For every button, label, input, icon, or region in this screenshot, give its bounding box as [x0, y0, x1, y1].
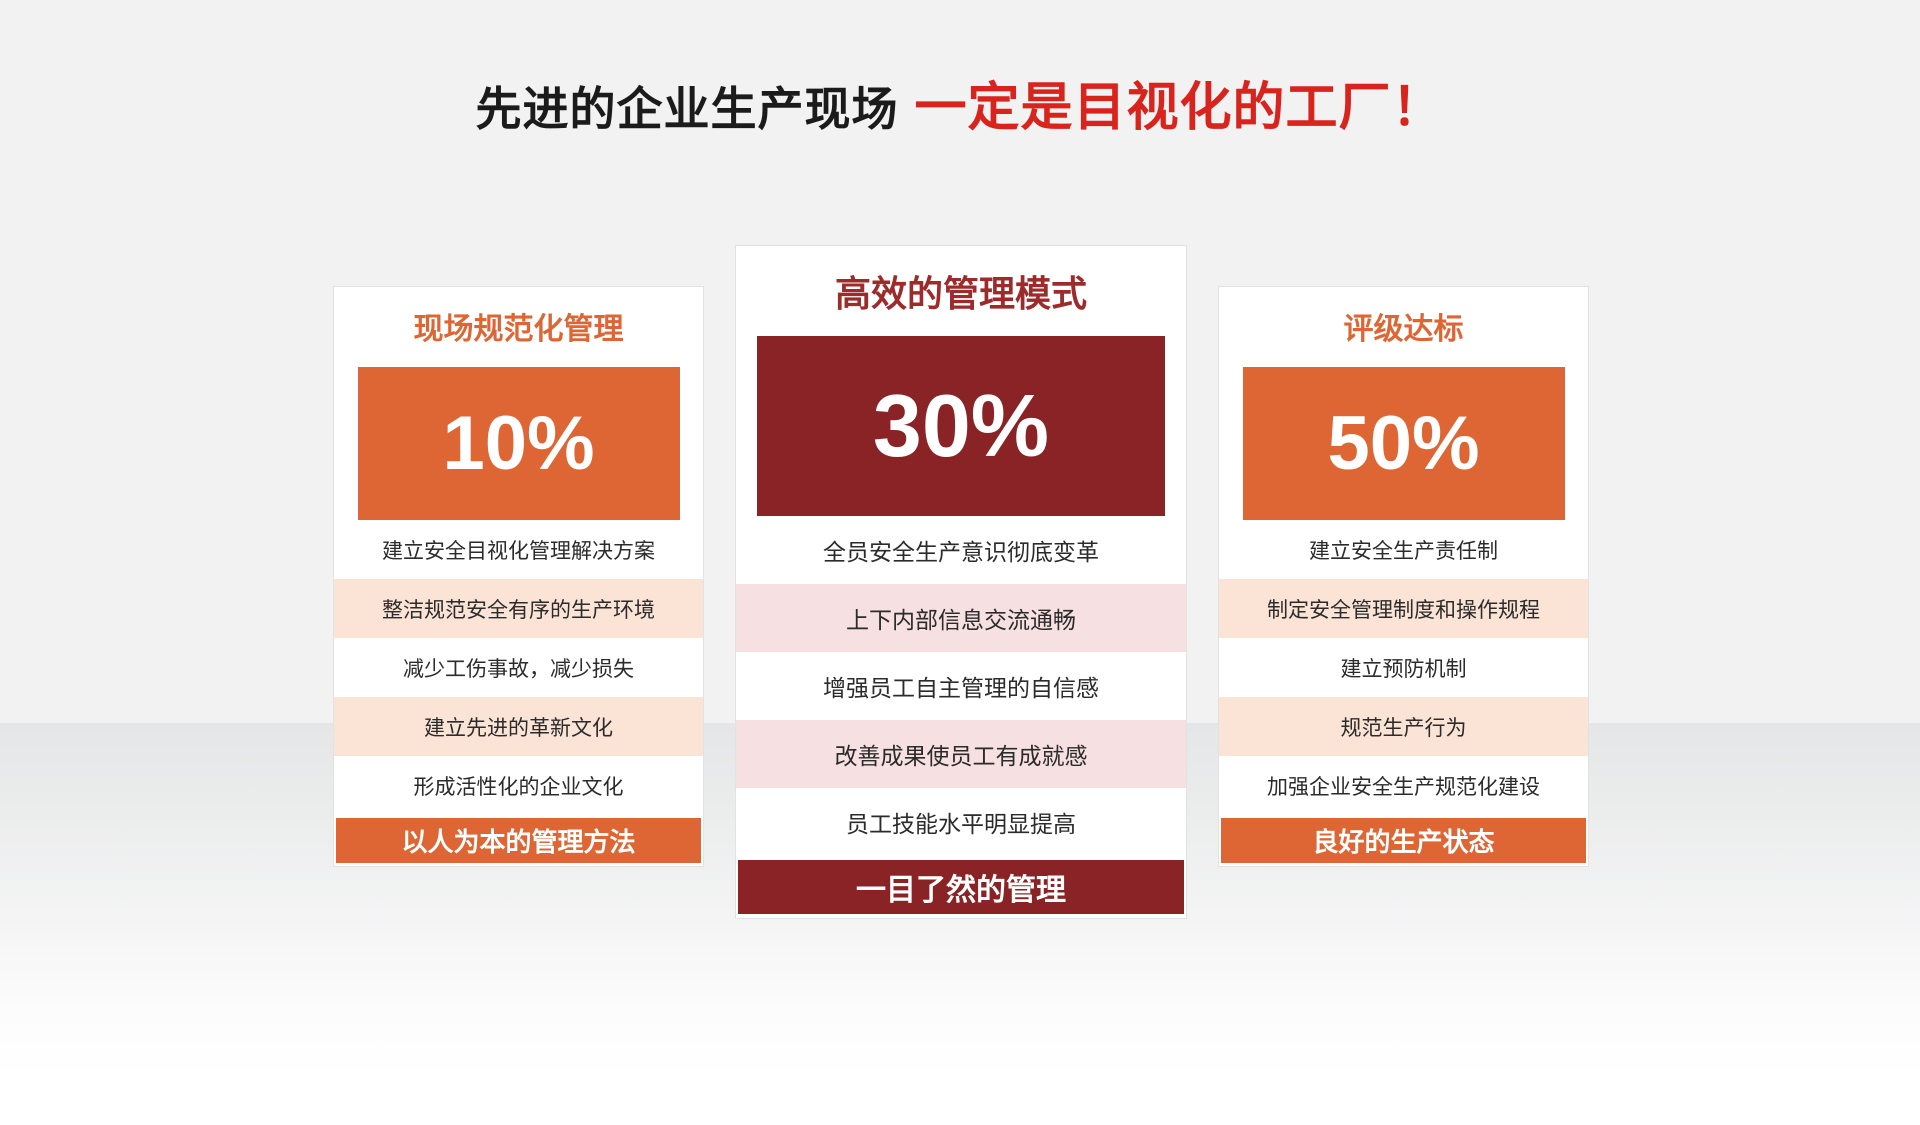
list-item[interactable]: 员工技能水平明显提高 — [736, 788, 1186, 856]
card-rating-compliance[interactable]: 评级达标 50% 建立安全生产责任制 制定安全管理制度和操作规程 建立预防机制 … — [1218, 286, 1589, 867]
card-row-list: 建立安全生产责任制 制定安全管理制度和操作规程 建立预防机制 规范生产行为 加强… — [1219, 520, 1588, 815]
card-footer-banner[interactable]: 一目了然的管理 — [738, 860, 1184, 914]
list-item[interactable]: 整洁规范安全有序的生产环境 — [334, 579, 703, 638]
list-item[interactable]: 改善成果使员工有成就感 — [736, 720, 1186, 788]
stat-percentage-block: 30% — [757, 336, 1165, 516]
stat-value: 50% — [1327, 406, 1479, 482]
list-item[interactable]: 增强员工自主管理的自信感 — [736, 652, 1186, 720]
list-item[interactable]: 上下内部信息交流通畅 — [736, 584, 1186, 652]
card-title: 现场规范化管理 — [334, 287, 703, 367]
stat-percentage-block: 50% — [1243, 367, 1565, 520]
list-item[interactable]: 规范生产行为 — [1219, 697, 1588, 756]
list-item[interactable]: 制定安全管理制度和操作规程 — [1219, 579, 1588, 638]
card-efficient-management-mode[interactable]: 高效的管理模式 30% 全员安全生产意识彻底变革 上下内部信息交流通畅 增强员工… — [735, 245, 1187, 919]
stat-value: 10% — [442, 406, 594, 482]
stat-percentage-block: 10% — [358, 367, 680, 520]
list-item[interactable]: 减少工伤事故，减少损失 — [334, 638, 703, 697]
list-item[interactable]: 建立预防机制 — [1219, 638, 1588, 697]
card-title: 高效的管理模式 — [736, 246, 1186, 336]
card-row-list: 全员安全生产意识彻底变革 上下内部信息交流通畅 增强员工自主管理的自信感 改善成… — [736, 516, 1186, 856]
card-footer-banner[interactable]: 以人为本的管理方法 — [336, 818, 701, 863]
list-item[interactable]: 加强企业安全生产规范化建设 — [1219, 756, 1588, 815]
page-title: 先进的企业生产现场一定是目视化的工厂！ — [0, 82, 1920, 134]
card-footer-banner[interactable]: 良好的生产状态 — [1221, 818, 1586, 863]
page-title-black-part: 先进的企业生产现场 — [475, 83, 898, 135]
page-title-red-part: 一定是目视化的工厂！ — [914, 79, 1444, 137]
stat-value: 30% — [873, 382, 1049, 470]
list-item[interactable]: 建立安全目视化管理解决方案 — [334, 520, 703, 579]
card-title: 评级达标 — [1219, 287, 1588, 367]
list-item[interactable]: 形成活性化的企业文化 — [334, 756, 703, 815]
list-item[interactable]: 建立先进的革新文化 — [334, 697, 703, 756]
card-row-list: 建立安全目视化管理解决方案 整洁规范安全有序的生产环境 减少工伤事故，减少损失 … — [334, 520, 703, 815]
card-site-standardized-management[interactable]: 现场规范化管理 10% 建立安全目视化管理解决方案 整洁规范安全有序的生产环境 … — [333, 286, 704, 867]
list-item[interactable]: 建立安全生产责任制 — [1219, 520, 1588, 579]
list-item[interactable]: 全员安全生产意识彻底变革 — [736, 516, 1186, 584]
